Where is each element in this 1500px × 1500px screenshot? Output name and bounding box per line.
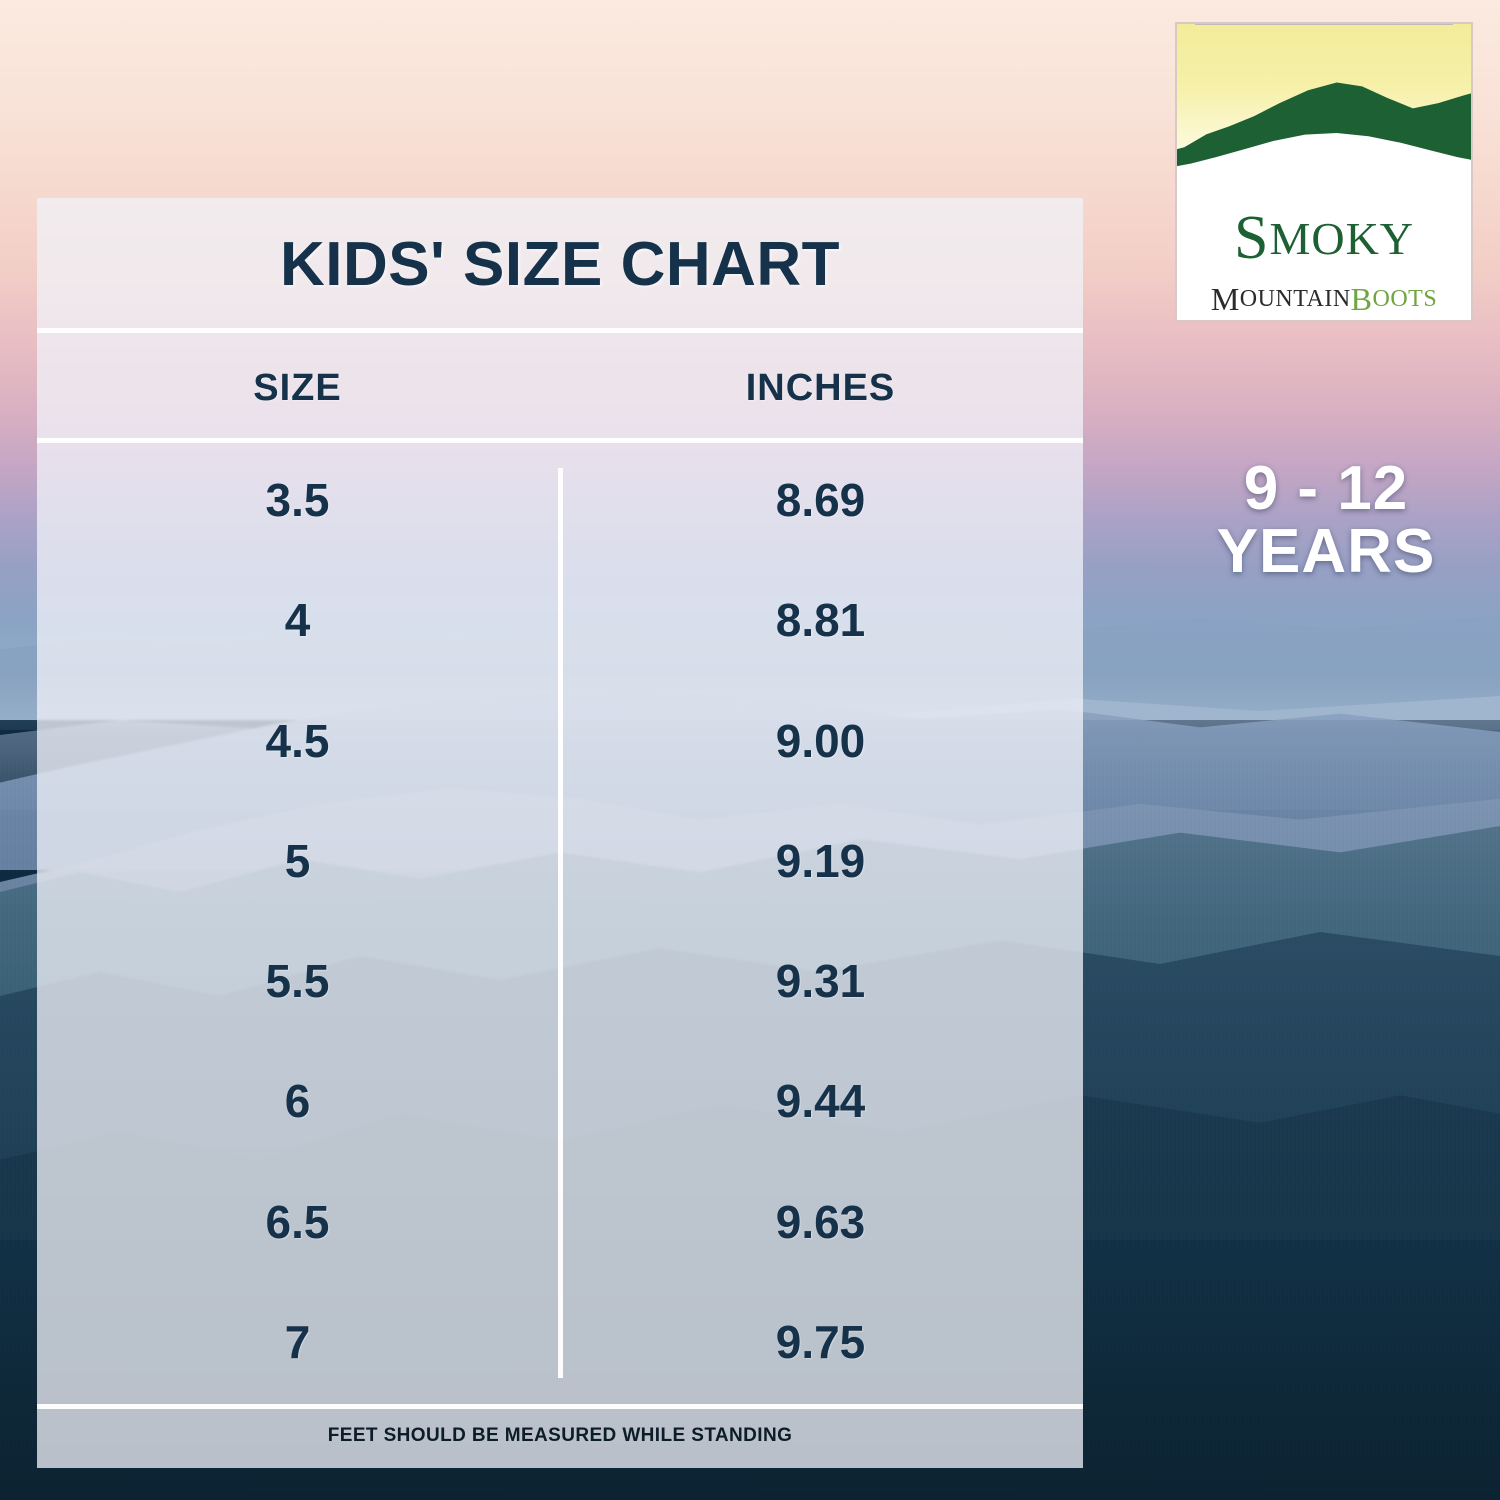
cell-size: 4.5 xyxy=(37,714,558,768)
table-row: 5.5 9.31 xyxy=(37,921,1083,1041)
logo-smoky-first-letter: S xyxy=(1234,203,1269,274)
age-range-line1: 9 - 12 xyxy=(1244,457,1409,520)
background-scene: KIDS' SIZE CHART SIZE INCHES 3.5 8.69 4 … xyxy=(0,0,1500,1500)
cell-size: 4 xyxy=(37,593,558,647)
cell-inches: 9.00 xyxy=(558,714,1083,768)
size-chart-table-body: 3.5 8.69 4 8.81 4.5 9.00 5 9.19 5.5 9.31… xyxy=(37,440,1083,1402)
logo-mountain-icon xyxy=(1177,24,1471,199)
cell-inches: 8.69 xyxy=(558,473,1083,527)
cell-inches: 8.81 xyxy=(558,593,1083,647)
cell-size: 3.5 xyxy=(37,473,558,527)
age-range-line2: YEARS xyxy=(1217,520,1436,583)
table-row: 3.5 8.69 xyxy=(37,440,1083,560)
cell-inches: 9.44 xyxy=(558,1074,1083,1128)
table-row: 6 9.44 xyxy=(37,1041,1083,1161)
table-row: 5 9.19 xyxy=(37,801,1083,921)
cell-inches: 9.31 xyxy=(558,954,1083,1008)
cell-size: 5.5 xyxy=(37,954,558,1008)
age-range-badge: 9 - 12 YEARS xyxy=(1166,440,1486,600)
logo-wordmark-mountainboots: MOUNTAINBOOTS xyxy=(1177,277,1471,321)
cell-inches: 9.75 xyxy=(558,1315,1083,1369)
logo-boots-first-letter: B xyxy=(1351,281,1373,318)
table-row: 7 9.75 xyxy=(37,1282,1083,1402)
footer-note-text: FEET SHOULD BE MEASURED WHILE STANDING xyxy=(328,1425,793,1447)
cell-size: 6.5 xyxy=(37,1195,558,1249)
brand-logo: SMOKY MOUNTAINBOOTS xyxy=(1175,22,1473,322)
size-chart-card: KIDS' SIZE CHART SIZE INCHES 3.5 8.69 4 … xyxy=(37,198,1083,1468)
logo-mountain-rest: OUNTAIN xyxy=(1240,286,1351,313)
page-title-text: KIDS' SIZE CHART xyxy=(280,229,840,300)
logo-wordmark-smoky: SMOKY xyxy=(1177,199,1471,277)
cell-inches: 9.19 xyxy=(558,834,1083,888)
table-row: 4 8.81 xyxy=(37,560,1083,680)
cell-size: 6 xyxy=(37,1074,558,1128)
logo-boots-rest: OOTS xyxy=(1373,286,1438,313)
cell-inches: 9.63 xyxy=(558,1195,1083,1249)
table-row: 6.5 9.63 xyxy=(37,1162,1083,1282)
cell-size: 7 xyxy=(37,1315,558,1369)
page-title: KIDS' SIZE CHART xyxy=(37,198,1083,330)
logo-mountain-first-letter: M xyxy=(1211,281,1240,318)
divider-under-title xyxy=(37,328,1083,333)
logo-smoky-rest: MOKY xyxy=(1269,212,1414,265)
column-header-inches: INCHES xyxy=(558,367,1083,410)
table-header-row: SIZE INCHES xyxy=(37,338,1083,438)
footer-note: FEET SHOULD BE MEASURED WHILE STANDING xyxy=(37,1404,1083,1468)
cell-size: 5 xyxy=(37,834,558,888)
column-header-size: SIZE xyxy=(37,367,558,410)
logo-divider xyxy=(1195,24,1453,25)
table-row: 4.5 9.00 xyxy=(37,681,1083,801)
